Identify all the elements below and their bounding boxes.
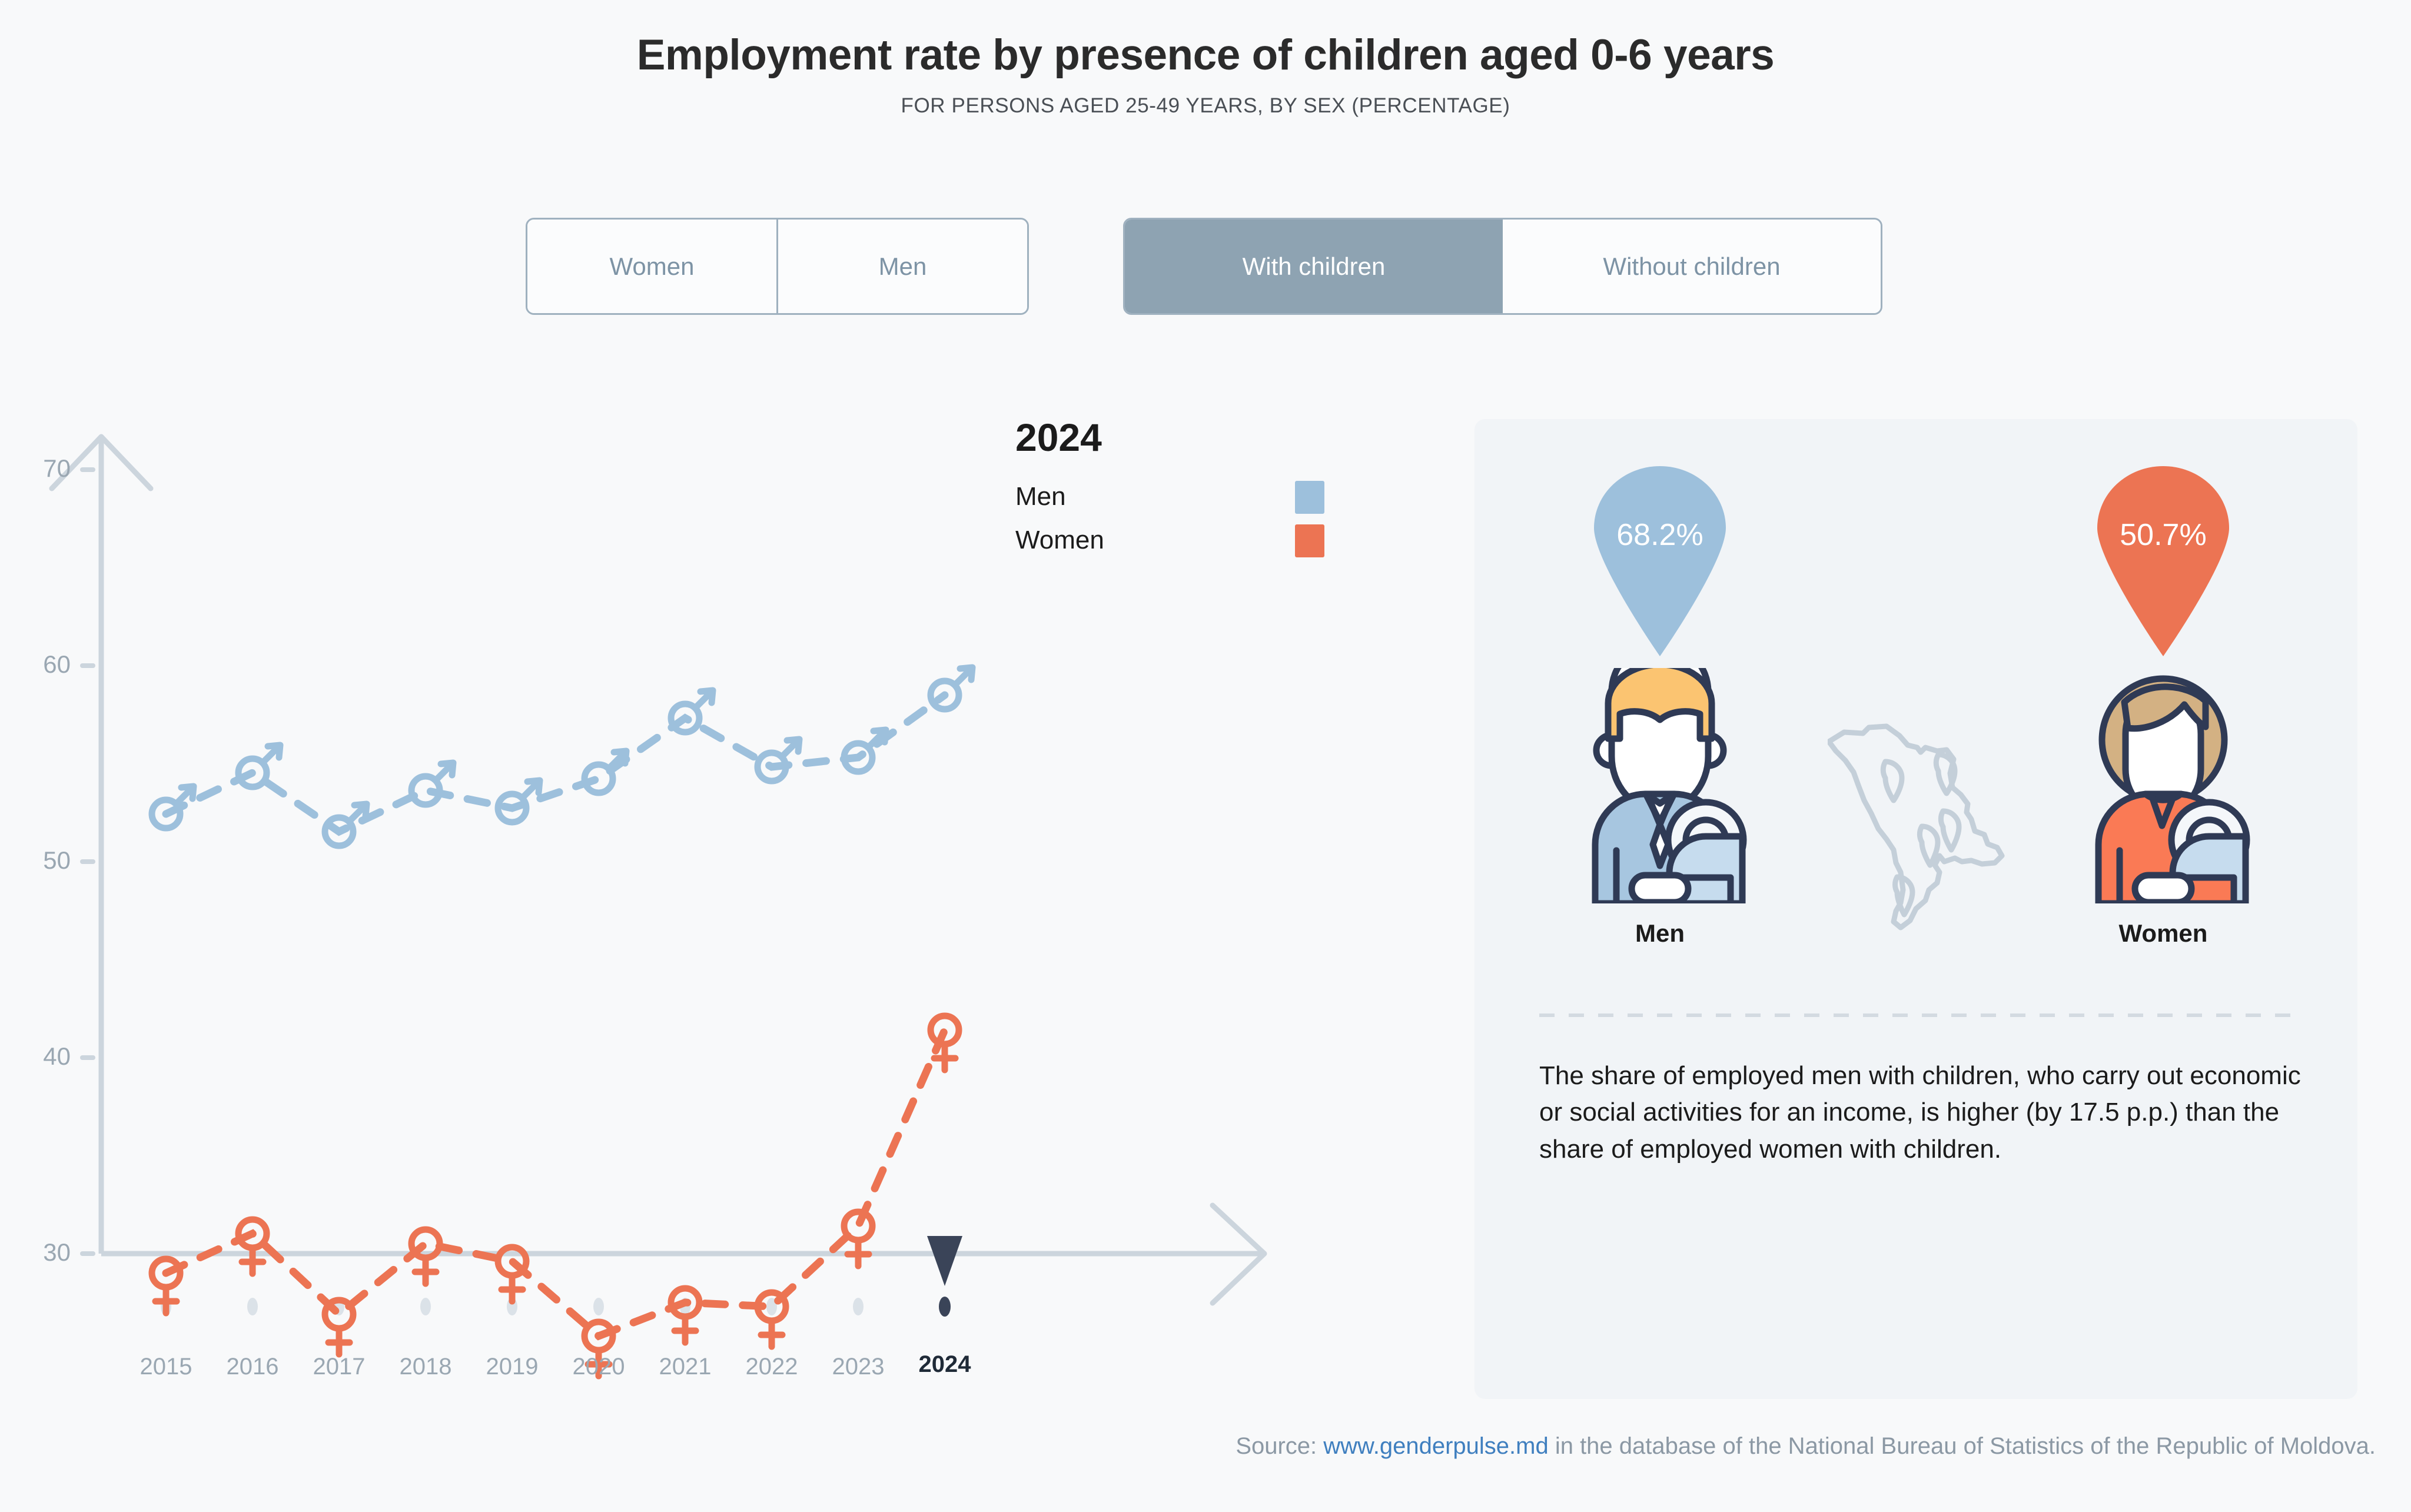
legend-swatch-men	[1295, 481, 1324, 514]
x-tick-2019: 2019	[465, 1354, 559, 1380]
y-tick-50: 50	[6, 846, 71, 875]
legend-label-men: Men	[1015, 482, 1066, 511]
children-toggle-group[interactable]: With children Without children	[1123, 218, 1882, 315]
x-tick-2023: 2023	[811, 1354, 905, 1380]
page-subtitle: FOR PERSONS AGED 25-49 YEARS, BY SEX (PE…	[0, 94, 2411, 118]
source-prefix: Source:	[1236, 1433, 1323, 1459]
woman-with-baby-icon	[2063, 668, 2263, 903]
card-divider	[1539, 1013, 2296, 1017]
legend-swatch-women	[1295, 524, 1324, 557]
source-footer: Source: www.genderpulse.md in the databa…	[0, 1433, 2411, 1460]
map-pin-icon	[2093, 463, 2234, 657]
source-suffix: in the database of the National Bureau o…	[1549, 1433, 2376, 1459]
x-tick-2020: 2020	[552, 1354, 646, 1380]
source-link[interactable]: www.genderpulse.md	[1323, 1433, 1548, 1459]
y-tick-70: 70	[6, 454, 71, 483]
x-tick-2021: 2021	[638, 1354, 732, 1380]
figure-label-men: Men	[1548, 919, 1772, 948]
summary-card: 68.2%	[1475, 419, 2357, 1399]
sex-toggle-group[interactable]: Women Men	[526, 218, 1029, 315]
pin-value-men: 68.2%	[1589, 517, 1731, 553]
summary-women: 50.7% Women	[2051, 463, 2275, 948]
legend-item-men[interactable]: Men	[1015, 477, 1345, 521]
toggle-without-children[interactable]: Without children	[1503, 220, 1881, 313]
map-pin-icon	[1589, 463, 1731, 657]
figure-label-women: Women	[2051, 919, 2275, 948]
y-tick-marks	[82, 470, 93, 1254]
page-title: Employment rate by presence of children …	[0, 31, 2411, 79]
y-tick-40: 40	[6, 1042, 71, 1071]
toggle-with-children[interactable]: With children	[1125, 220, 1503, 313]
moldova-map	[1828, 696, 2016, 931]
pin-men: 68.2%	[1589, 463, 1731, 657]
chart-legend: 2024 Men Women	[1015, 415, 1345, 564]
chart-axes	[52, 436, 1266, 1303]
x-tick-2016: 2016	[205, 1354, 300, 1380]
current-year-marker	[927, 1236, 962, 1286]
toggle-men[interactable]: Men	[776, 220, 1027, 313]
y-tick-60: 60	[6, 650, 71, 679]
pin-value-women: 50.7%	[2093, 517, 2234, 553]
man-with-baby-icon	[1560, 668, 1760, 903]
series-markers-women	[152, 1016, 959, 1376]
summary-men: 68.2%	[1548, 463, 1772, 948]
x-tick-2017: 2017	[292, 1354, 386, 1380]
toggle-women[interactable]: Women	[527, 220, 776, 313]
series-line-men	[166, 695, 945, 832]
x-tick-2015: 2015	[119, 1354, 213, 1380]
x-tick-2024: 2024	[898, 1351, 992, 1378]
y-tick-30: 30	[6, 1238, 71, 1267]
legend-year: 2024	[1015, 415, 1345, 460]
pin-women: 50.7%	[2093, 463, 2234, 657]
series-line-women	[166, 1030, 945, 1336]
x-tick-2022: 2022	[725, 1354, 819, 1380]
x-tick-2018: 2018	[378, 1354, 473, 1380]
infographic-root: Employment rate by presence of children …	[0, 0, 2411, 1512]
card-description: The share of employed men with children,…	[1539, 1058, 2310, 1168]
moldova-outline-icon	[1828, 696, 2016, 931]
legend-label-women: Women	[1015, 526, 1104, 555]
legend-item-women[interactable]: Women	[1015, 521, 1345, 564]
